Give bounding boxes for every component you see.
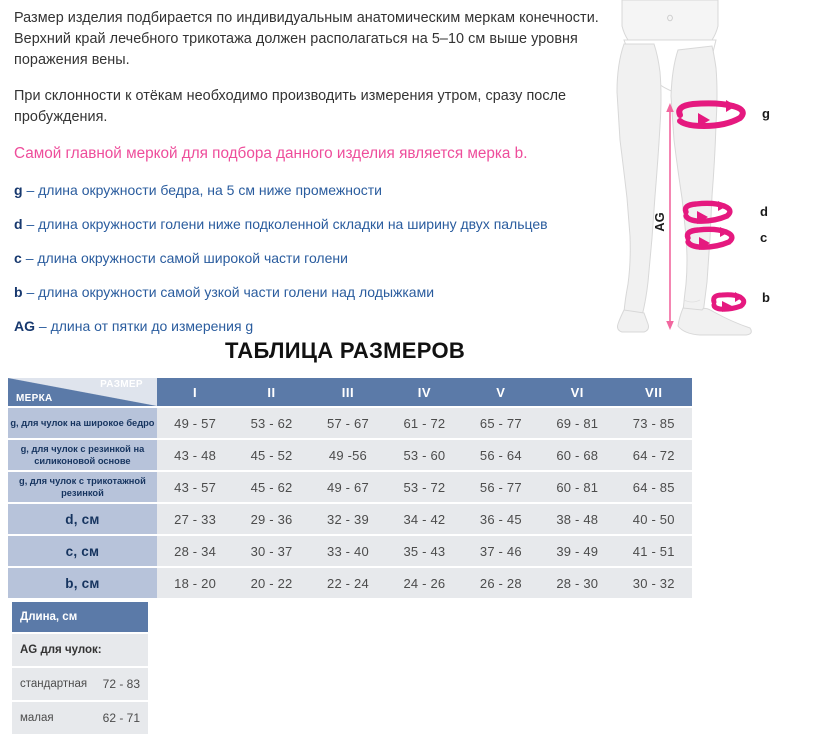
definition-b: b – длина окружности самой узкой части г… [14, 283, 614, 302]
figure-label-ag: AG [652, 212, 667, 232]
row-label: b, см [8, 568, 157, 598]
column-header-1: I [157, 378, 233, 406]
table-cell: 56 - 64 [463, 440, 539, 470]
table-cell: 43 - 57 [157, 472, 233, 502]
table-row: c, см 28 - 34 30 - 37 33 - 40 35 - 43 37… [8, 536, 692, 566]
table-cell: 40 - 50 [615, 504, 692, 534]
table-cell: 69 - 81 [539, 408, 615, 438]
definition-text-g: длина окружности бедра, на 5 см ниже про… [38, 182, 382, 198]
intro-paragraph-2: При склонности к отёкам необходимо произ… [14, 86, 614, 128]
figure-label-c: c [760, 230, 767, 245]
table-cell: 64 - 72 [615, 440, 692, 470]
size-table: РАЗМЕР МЕРКА I II III IV V VI VII g, для… [8, 376, 692, 600]
table-row: g, для чулок с трикотажной резинкой 43 -… [8, 472, 692, 502]
measurement-definitions-list: g – длина окружности бедра, на 5 см ниже… [14, 181, 614, 336]
leg-measurement-diagram: AG g d c b [600, 0, 836, 345]
table-cell: 61 - 72 [386, 408, 462, 438]
table-row: g, для чулок с резинкой на силиконовой о… [8, 440, 692, 470]
table-row: b, см 18 - 20 20 - 22 22 - 24 24 - 26 26… [8, 568, 692, 598]
definition-key-d: d [14, 216, 23, 232]
definition-ag: AG – длина от пятки до измерения g [14, 317, 614, 336]
table-cell: 49 - 67 [310, 472, 386, 502]
table-cell: 41 - 51 [615, 536, 692, 566]
row-label: g, для чулок с резинкой на силиконовой о… [8, 440, 157, 470]
length-row: стандартная 72 - 83 [12, 668, 148, 700]
table-cell: 53 - 60 [386, 440, 462, 470]
table-row: g, для чулок на широкое бедро 49 - 57 53… [8, 408, 692, 438]
length-row-value: 72 - 83 [94, 668, 148, 700]
page-title: ТАБЛИЦА РАЗМЕРОВ [0, 338, 690, 364]
definition-text-b: длина окружности самой узкой части голен… [38, 284, 434, 300]
table-cell: 27 - 33 [157, 504, 233, 534]
column-header-3: III [310, 378, 386, 406]
corner-label-merka: МЕРКА [16, 393, 53, 404]
table-cell: 53 - 62 [233, 408, 309, 438]
table-cell: 36 - 45 [463, 504, 539, 534]
table-cell: 30 - 37 [233, 536, 309, 566]
column-header-6: VI [539, 378, 615, 406]
key-measurement-note: Самой главной меркой для подбора данного… [14, 143, 614, 164]
table-row: d, см 27 - 33 29 - 36 32 - 39 34 - 42 36… [8, 504, 692, 534]
row-label: g, для чулок на широкое бедро [8, 408, 157, 438]
length-row-value: 62 - 71 [94, 702, 148, 734]
length-row-name: стандартная [12, 668, 94, 700]
table-cell: 53 - 72 [386, 472, 462, 502]
definition-text-d: длина окружности голени ниже подколенной… [38, 216, 547, 232]
table-cell: 45 - 52 [233, 440, 309, 470]
table-cell: 73 - 85 [615, 408, 692, 438]
length-header-row: Длина, см [12, 602, 148, 632]
definition-text-c: длина окружности самой широкой части гол… [37, 250, 348, 266]
column-header-4: IV [386, 378, 462, 406]
table-cell: 30 - 32 [615, 568, 692, 598]
table-cell: 38 - 48 [539, 504, 615, 534]
length-row: AG для чулок: [12, 634, 148, 666]
table-cell: 35 - 43 [386, 536, 462, 566]
table-cell: 28 - 34 [157, 536, 233, 566]
length-row-name: малая [12, 702, 94, 734]
table-cell: 32 - 39 [310, 504, 386, 534]
column-header-5: V [463, 378, 539, 406]
table-cell: 45 - 62 [233, 472, 309, 502]
table-cell: 56 - 77 [463, 472, 539, 502]
table-cell: 43 - 48 [157, 440, 233, 470]
length-header: Длина, см [12, 602, 148, 632]
corner-header-cell: РАЗМЕР МЕРКА [8, 378, 157, 406]
row-label: d, см [8, 504, 157, 534]
figure-label-b: b [762, 290, 770, 305]
definition-key-b: b [14, 284, 23, 300]
table-cell: 34 - 42 [386, 504, 462, 534]
row-label: c, см [8, 536, 157, 566]
length-row: малая 62 - 71 [12, 702, 148, 734]
definition-d: d – длина окружности голени ниже подколе… [14, 215, 614, 234]
table-cell: 60 - 81 [539, 472, 615, 502]
table-header-row: РАЗМЕР МЕРКА I II III IV V VI VII [8, 378, 692, 406]
definition-dash-g: – [26, 182, 34, 198]
column-header-2: II [233, 378, 309, 406]
figure-label-d: d [760, 204, 768, 219]
corner-label-razmer: РАЗМЕР [100, 379, 143, 390]
definition-dash-c: – [26, 250, 34, 266]
definition-key-g: g [14, 182, 23, 198]
length-subtitle: AG для чулок: [12, 634, 148, 666]
table-cell: 29 - 36 [233, 504, 309, 534]
column-header-7: VII [615, 378, 692, 406]
table-cell: 18 - 20 [157, 568, 233, 598]
table-cell: 28 - 30 [539, 568, 615, 598]
instructions-column: Размер изделия подбирается по индивидуал… [14, 8, 614, 351]
definition-dash-d: – [26, 216, 34, 232]
definition-dash-ag: – [39, 318, 47, 334]
table-cell: 33 - 40 [310, 536, 386, 566]
table-cell: 20 - 22 [233, 568, 309, 598]
definition-g: g – длина окружности бедра, на 5 см ниже… [14, 181, 614, 200]
intro-paragraph-1: Размер изделия подбирается по индивидуал… [14, 8, 614, 71]
definition-key-ag: AG [14, 318, 35, 334]
figure-label-g: g [762, 106, 770, 121]
definition-key-c: c [14, 250, 22, 266]
table-cell: 64 - 85 [615, 472, 692, 502]
measure-arrowhead-g-icon [726, 100, 736, 112]
table-cell: 65 - 77 [463, 408, 539, 438]
definition-dash-b: – [26, 284, 34, 300]
size-table-section: РАЗМЕР МЕРКА I II III IV V VI VII g, для… [8, 376, 828, 736]
table-cell: 60 - 68 [539, 440, 615, 470]
length-panel: Длина, см AG для чулок: стандартная 72 -… [12, 600, 148, 736]
table-cell: 49 -56 [310, 440, 386, 470]
body-silhouette-icon [617, 0, 751, 335]
table-cell: 22 - 24 [310, 568, 386, 598]
definition-text-ag: длина от пятки до измерения g [51, 318, 254, 334]
length-table: Длина, см AG для чулок: стандартная 72 -… [12, 600, 148, 736]
row-label: g, для чулок с трикотажной резинкой [8, 472, 157, 502]
table-cell: 49 - 57 [157, 408, 233, 438]
table-cell: 37 - 46 [463, 536, 539, 566]
table-cell: 24 - 26 [386, 568, 462, 598]
table-cell: 26 - 28 [463, 568, 539, 598]
table-cell: 39 - 49 [539, 536, 615, 566]
ag-measure-arrow-icon [666, 103, 674, 330]
definition-c: c – длина окружности самой широкой части… [14, 249, 614, 268]
table-cell: 57 - 67 [310, 408, 386, 438]
